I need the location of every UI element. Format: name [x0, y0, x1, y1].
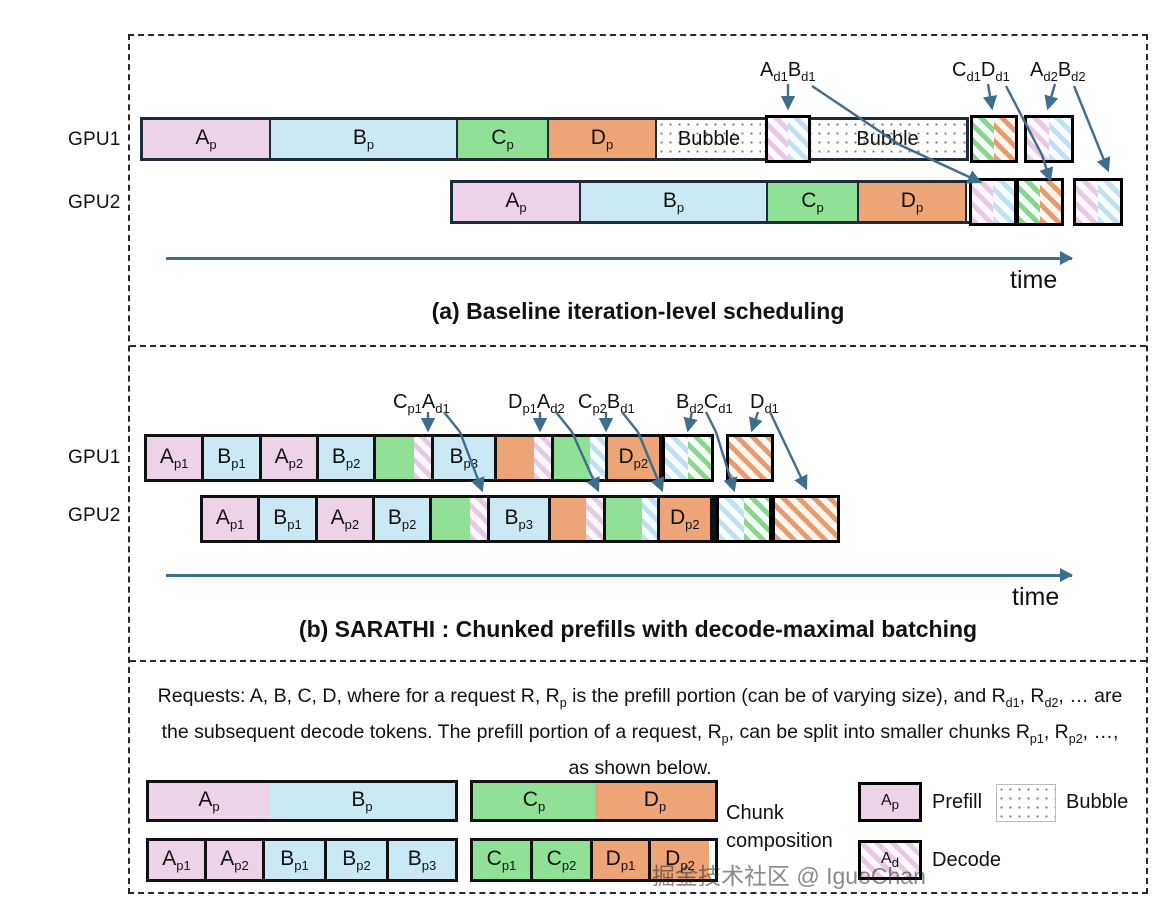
- annotation-dp1ad2: Dp1Ad2: [508, 392, 565, 415]
- block-mixed-cp2-bd1: [606, 498, 659, 540]
- block-chunk-ap2: Ap2: [262, 437, 319, 479]
- hatch-orange: [994, 118, 1015, 160]
- sarathi-scheduling-figure: GPU1 GPU2 Ap Bp Cp Dp Bubble Bubble Ap: [0, 0, 1176, 918]
- block-label: Ap1: [216, 507, 244, 531]
- block-label: Ap: [195, 127, 216, 151]
- block-chunk-bp2: Bp2: [375, 498, 432, 540]
- chunk-bp2: Bp2: [327, 841, 389, 879]
- block-label: Ap2: [220, 848, 248, 872]
- hatch-pink: [1027, 118, 1049, 160]
- block-prefill-a: Ap: [453, 183, 581, 221]
- legend-bubble-swatch: [996, 784, 1056, 822]
- block-label: Cp: [801, 190, 823, 214]
- block-label: Bp: [663, 190, 684, 214]
- block-label: Bp: [351, 789, 372, 813]
- annotation-cp1ad1: Cp1Ad1: [393, 392, 450, 415]
- chunk-composition-label-line1: Chunk: [726, 800, 784, 827]
- hatch-green: [973, 118, 994, 160]
- panel-a-gpu2-label: GPU2: [68, 192, 121, 214]
- block-bubble-1: Bubble: [657, 120, 761, 158]
- block-label: Ap2: [331, 507, 359, 531]
- annotation-cp2bd1: Cp2Bd1: [578, 392, 635, 415]
- block-label: Bp3: [505, 507, 533, 531]
- block-chunk-bp1: Bp1: [260, 498, 317, 540]
- block-label: Ap1: [160, 446, 188, 470]
- block-prefill-a: Ap: [143, 120, 271, 158]
- panel-a-gpu1-row: Ap Bp Cp Dp Bubble Bubble: [140, 117, 969, 161]
- chunk-ap2: Ap2: [207, 841, 265, 879]
- block-chunk-dp2: Dp2: [660, 498, 713, 540]
- hatch-orange: [775, 498, 837, 540]
- legend-prefill-text: Prefill: [932, 791, 982, 814]
- block-label: Dp: [901, 190, 923, 214]
- block-mixed-cp2-bd1: [554, 437, 607, 479]
- gap-bubble-b-gpu1: [714, 434, 726, 482]
- hatch-green: [1019, 181, 1040, 223]
- legend-bubble-text: Bubble: [1066, 791, 1128, 814]
- panel-a-caption: (a) Baseline iteration-level scheduling: [128, 298, 1148, 325]
- block-chunk-bp1: Bp1: [204, 437, 261, 479]
- panel-a-gpu2-row: Ap Bp Cp Dp: [450, 180, 1021, 224]
- decode-box-a-gpu1-ad2bd2: [1024, 115, 1074, 163]
- block-mixed-cp1-ad1: [376, 437, 433, 479]
- chunk-ap: Ap: [149, 783, 269, 819]
- hatch-pink: [972, 181, 993, 223]
- panel-a-time-label: time: [1010, 266, 1057, 295]
- panel-b-caption: (b) SARATHI : Chunked prefills with deco…: [128, 616, 1148, 643]
- chunk-composition-label-line2: composition: [726, 828, 833, 855]
- panel-b-gpu1-row: Ap1 Bp1 Ap2 Bp2 Bp3 Dp2: [144, 434, 662, 482]
- block-label: Cp: [491, 127, 513, 151]
- block-chunk-ap2: Ap2: [318, 498, 375, 540]
- panel-a-time-axis: [166, 257, 1072, 260]
- chunk-cp: Cp: [473, 783, 595, 819]
- block-label: Dp: [591, 127, 613, 151]
- hatch-pink: [586, 498, 603, 540]
- hatch-blue: [642, 498, 657, 540]
- block-label: Dp2: [618, 446, 648, 470]
- block-chunk-dp2: Dp2: [608, 437, 659, 479]
- block-prefill-b: Bp: [271, 120, 458, 158]
- hatch-orange: [1040, 181, 1061, 223]
- block-label: Bp3: [408, 848, 436, 872]
- panel-separator-b-desc: [130, 660, 1146, 662]
- hatch-green: [744, 498, 769, 540]
- panel-b-gpu1-label: GPU1: [68, 447, 121, 469]
- decode-box-a-gpu2-cd1dd1: [1016, 178, 1064, 226]
- hatch-blue: [1098, 181, 1120, 223]
- decode-box-b-gpu2-dd1: [772, 495, 840, 543]
- bubble-label: Bubble: [856, 128, 918, 151]
- panel-b-gpu2-label: GPU2: [68, 505, 121, 527]
- hatch-blue: [993, 181, 1014, 223]
- chunk-dp: Dp: [595, 783, 715, 819]
- block-mixed-cp1-ad1: [432, 498, 489, 540]
- hatch-pink: [768, 118, 788, 160]
- hatch-blue: [590, 437, 605, 479]
- bubble-label: Bubble: [678, 128, 740, 151]
- block-label: Ap1: [162, 848, 190, 872]
- chunk-bp3: Bp3: [389, 841, 455, 879]
- block-chunk-bp3: Bp3: [490, 498, 551, 540]
- block-label: Dp1: [606, 848, 636, 872]
- hatch-blue: [1049, 118, 1071, 160]
- hatch-blue: [719, 498, 744, 540]
- hatch-pink: [414, 437, 431, 479]
- decode-box-b-gpu1-bd2cd1: [662, 434, 714, 482]
- block-mixed-dp1-ad2: [551, 498, 606, 540]
- block-label: Ap2: [275, 446, 303, 470]
- annotation-ad1bd1: Ad1Bd1: [760, 60, 816, 83]
- annotation-ad2bd2: Ad2Bd2: [1030, 60, 1086, 83]
- block-prefill-c: Cp: [458, 120, 549, 158]
- chunk-top-left-row: Ap Bp: [146, 780, 458, 822]
- block-label: Cp2: [547, 848, 577, 872]
- block-label: Bp2: [342, 848, 370, 872]
- block-label: Bp1: [217, 446, 245, 470]
- chunk-bottom-left-row: Ap1 Ap2 Bp1 Bp2 Bp3: [146, 838, 458, 882]
- hatch-pink: [1076, 181, 1098, 223]
- hatch-pink: [534, 437, 551, 479]
- decode-box-b-gpu1-dd1: [726, 434, 774, 482]
- hatch-pink: [470, 498, 487, 540]
- block-label: Dp: [644, 789, 666, 813]
- chunk-dp1: Dp1: [593, 841, 651, 879]
- decode-box-a-gpu2-ad2bd2: [1073, 178, 1123, 226]
- legend-decode-text: Decode: [932, 849, 1001, 872]
- block-chunk-ap1: Ap1: [203, 498, 260, 540]
- block-label: Bp: [353, 127, 374, 151]
- annotation-bd2cd1: Bd2Cd1: [676, 392, 733, 415]
- panel-a-gpu1-label: GPU1: [68, 129, 121, 151]
- block-prefill-b: Bp: [581, 183, 768, 221]
- chunk-ap1: Ap1: [149, 841, 207, 879]
- block-label: Bp2: [332, 446, 360, 470]
- block-prefill-d: Dp: [859, 183, 967, 221]
- hatch-blue: [788, 118, 808, 160]
- hatch-blue: [665, 437, 688, 479]
- block-label: Bp1: [273, 507, 301, 531]
- block-bubble-2: Bubble: [815, 120, 960, 158]
- block-label: Ap: [505, 190, 526, 214]
- block-chunk-bp3: Bp3: [434, 437, 497, 479]
- panel-b-time-label: time: [1012, 583, 1059, 612]
- watermark-text: 掘金技术社区 @ IguoChan: [652, 857, 926, 891]
- block-label: Dp2: [670, 507, 700, 531]
- legend-prefill-swatch: Ap: [858, 782, 922, 822]
- block-chunk-ap1: Ap1: [147, 437, 204, 479]
- block-prefill-d: Dp: [549, 120, 657, 158]
- block-label: Bp3: [450, 446, 478, 470]
- legend-sample-label: Ap: [881, 792, 899, 812]
- block-label: Bp1: [280, 848, 308, 872]
- hatch-green: [688, 437, 711, 479]
- block-chunk-bp2: Bp2: [319, 437, 376, 479]
- chunk-bp: Bp: [269, 783, 455, 819]
- block-label: Cp1: [487, 848, 517, 872]
- chunk-top-right-row: Cp Dp: [470, 780, 718, 822]
- decode-box-a-gpu2-ad1bd1: [969, 178, 1017, 226]
- block-bubble-gap-2: [960, 120, 966, 158]
- decode-box-a-gpu1-cd1dd1: [970, 115, 1018, 163]
- figure-description: Requests: A, B, C, D, where for a reques…: [150, 682, 1130, 783]
- annotation-cd1dd1: Cd1Dd1: [952, 60, 1010, 83]
- decode-box-a-gpu1-ad1bd1: [765, 115, 811, 163]
- chunk-bp1: Bp1: [265, 841, 327, 879]
- block-prefill-c: Cp: [768, 183, 859, 221]
- annotation-dd1: Dd1: [750, 392, 779, 415]
- chunk-cp1: Cp1: [473, 841, 533, 879]
- panel-b-time-axis: [166, 574, 1072, 577]
- block-label: Ap: [198, 789, 219, 813]
- hatch-orange: [729, 437, 771, 479]
- panel-b-gpu2-row: Ap1 Bp1 Ap2 Bp2 Bp3 Dp2: [200, 495, 716, 543]
- panel-separator-a-b: [130, 345, 1146, 347]
- chunk-cp2: Cp2: [533, 841, 593, 879]
- decode-box-b-gpu2-bd2cd1: [716, 495, 772, 543]
- block-label: Bp2: [388, 507, 416, 531]
- block-label: Cp: [523, 789, 545, 813]
- block-mixed-dp1-ad2: [497, 437, 554, 479]
